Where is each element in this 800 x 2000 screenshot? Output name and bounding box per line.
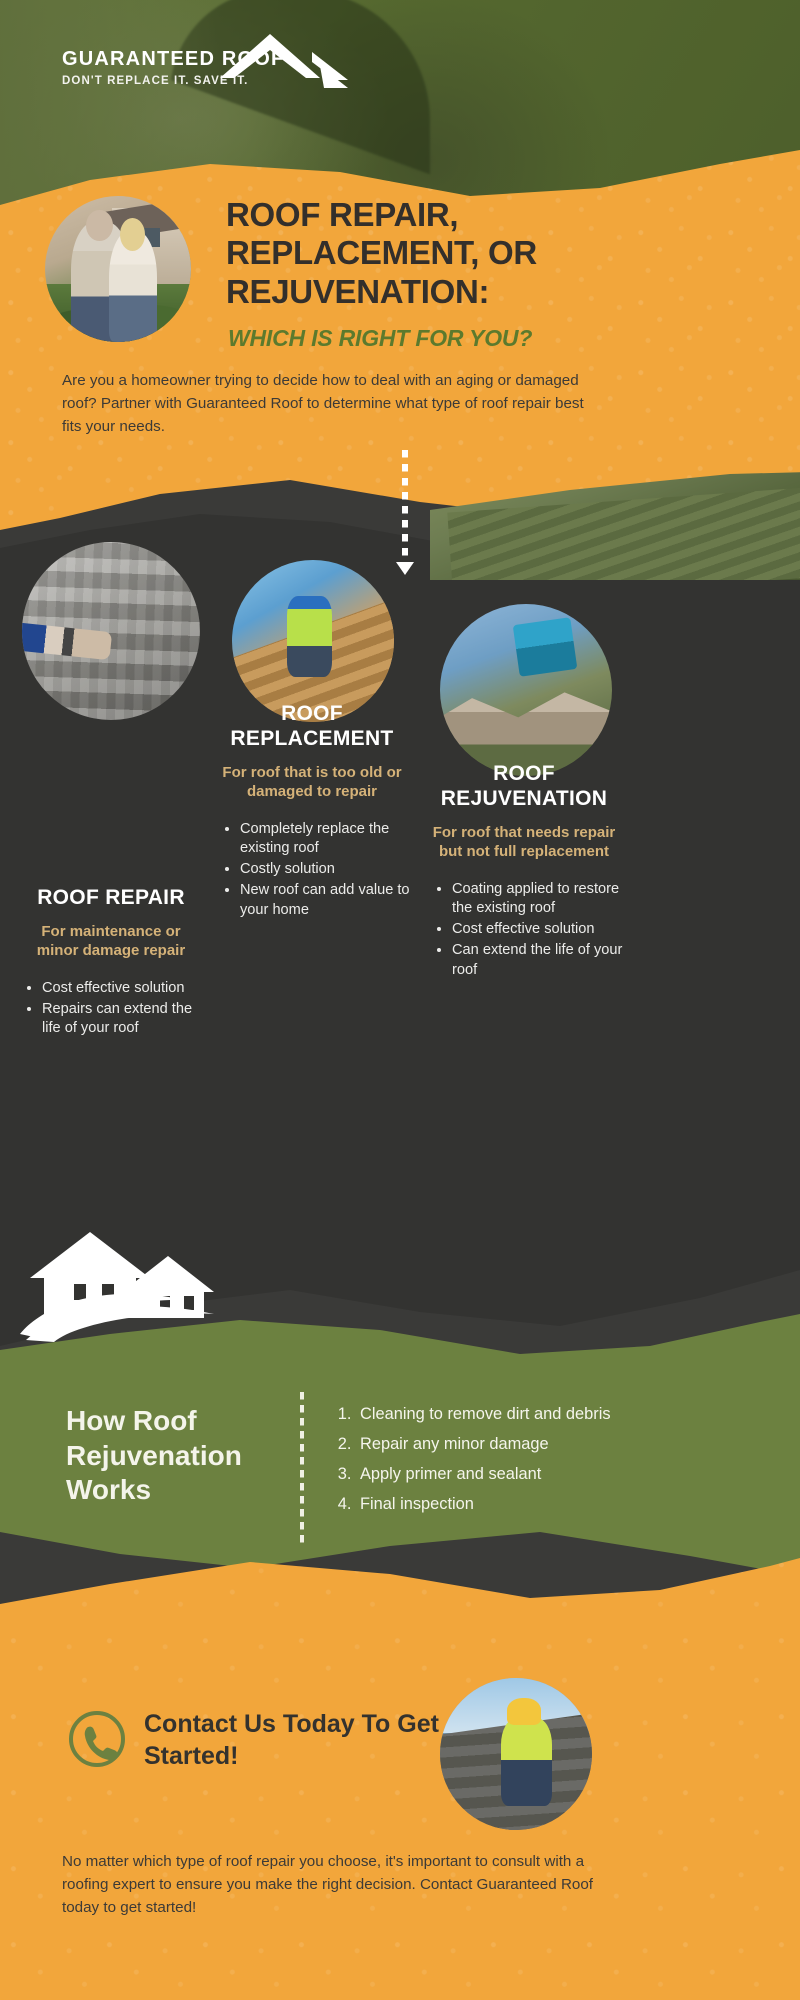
list-item: New roof can add value to your home	[240, 881, 412, 921]
worker-figure	[501, 1718, 553, 1806]
card-title: ROOF REPAIR	[20, 886, 202, 911]
brand-logo[interactable]: GUARANTEED ROOF DON'T REPLACE IT. SAVE I…	[62, 48, 342, 87]
intro-paragraph: Are you a homeowner trying to decide how…	[62, 370, 592, 438]
list-item: Repair any minor damage	[356, 1430, 630, 1460]
dotted-divider	[300, 1392, 304, 1548]
page-title: ROOF REPAIR, REPLACEMENT, OR REJUVENATIO…	[226, 196, 626, 311]
card-bullet-list: Cost effective solution Repairs can exte…	[20, 979, 202, 1040]
list-item: Repairs can extend the life of your roof	[42, 1000, 202, 1040]
list-item: Apply primer and sealant	[356, 1460, 630, 1490]
cta-title: Contact Us Today To Get Started!	[144, 1708, 444, 1772]
infographic-page: GUARANTEED ROOF DON'T REPLACE IT. SAVE I…	[0, 0, 800, 2000]
footer-orange-band	[0, 1548, 800, 2000]
roof-peak-logo-icon	[208, 32, 348, 92]
card-title: ROOF REPLACEMENT	[212, 702, 412, 752]
houses-with-swoosh-icon	[18, 1222, 268, 1342]
process-title: How Roof Rejuvenation Works	[66, 1404, 296, 1508]
list-item: Coating applied to restore the existing …	[452, 880, 624, 920]
card-title: ROOF REJUVENATION	[424, 762, 624, 812]
arrow-dots	[402, 450, 408, 560]
dotted-down-arrow-icon	[402, 450, 414, 575]
list-item: Completely replace the existing roof	[240, 820, 412, 860]
woman-figure	[109, 231, 157, 342]
roof-repair-photo	[22, 542, 200, 720]
footer-texture-overlay	[0, 1548, 800, 2000]
card-subtitle: For maintenance or minor damage repair	[20, 922, 202, 961]
list-item: Final inspection	[356, 1490, 630, 1520]
list-item: Costly solution	[240, 860, 412, 880]
list-item: Cleaning to remove dirt and debris	[356, 1400, 630, 1430]
card-roof-rejuvenation: ROOF REJUVENATION For roof that needs re…	[424, 762, 624, 982]
happy-couple-photo	[45, 196, 191, 342]
list-item: Cost effective solution	[42, 979, 202, 999]
card-subtitle: For roof that needs repair but not full …	[424, 823, 624, 862]
card-roof-repair: ROOF REPAIR For maintenance or minor dam…	[20, 886, 202, 1040]
list-item: Can extend the life of your roof	[452, 941, 624, 981]
roof-replacement-photo	[232, 560, 394, 722]
list-item: Cost effective solution	[452, 920, 624, 940]
process-step-list: Cleaning to remove dirt and debris Repai…	[330, 1400, 630, 1519]
card-bullet-list: Completely replace the existing roof Cos…	[212, 820, 412, 921]
roofer-worker-photo	[440, 1678, 592, 1830]
page-subtitle: WHICH IS RIGHT FOR YOU?	[228, 325, 628, 352]
phone-icon[interactable]	[68, 1710, 126, 1768]
card-subtitle: For roof that is too old or damaged to r…	[212, 763, 412, 802]
arrow-head	[396, 562, 414, 575]
footer-paragraph: No matter which type of roof repair you …	[62, 1850, 622, 1919]
roof-rejuvenation-photo	[440, 604, 612, 776]
card-bullet-list: Coating applied to restore the existing …	[424, 880, 624, 981]
card-roof-replacement: ROOF REPLACEMENT For roof that is too ol…	[212, 702, 412, 922]
